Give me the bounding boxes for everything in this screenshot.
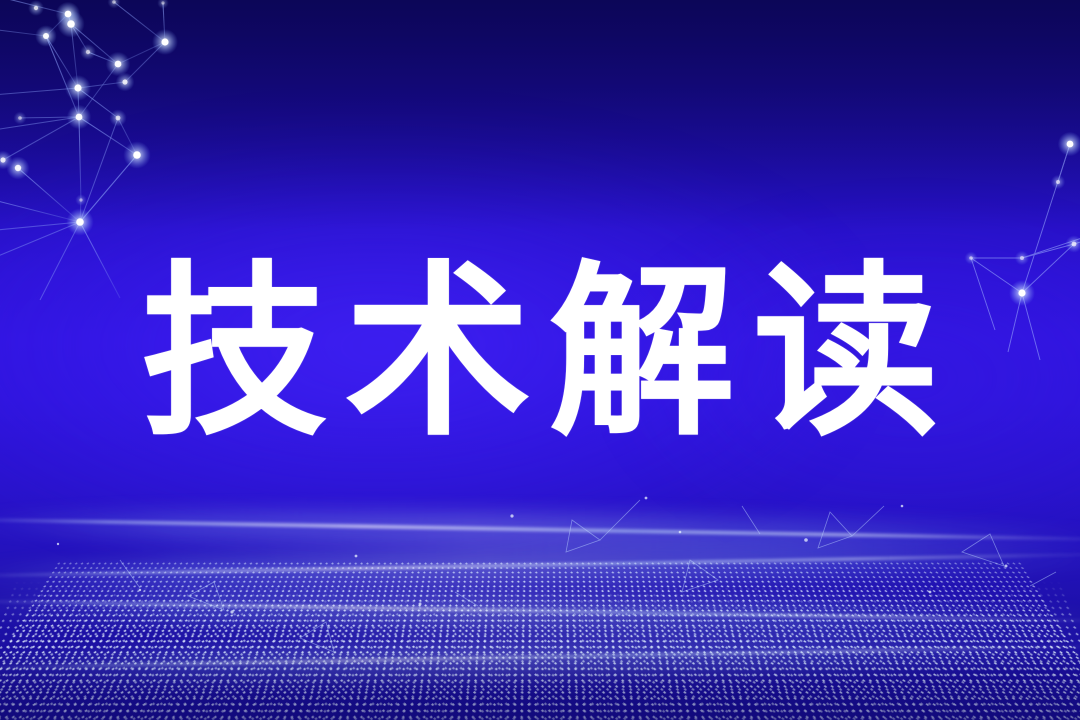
tech-banner: 技术解读 [0, 0, 1080, 720]
bottom-fade [0, 650, 1080, 720]
top-vignette [0, 0, 1080, 230]
title-container: 技术解读 [0, 248, 1080, 458]
page-title: 技术解读 [123, 260, 957, 446]
particle-wave-field [0, 460, 1080, 720]
